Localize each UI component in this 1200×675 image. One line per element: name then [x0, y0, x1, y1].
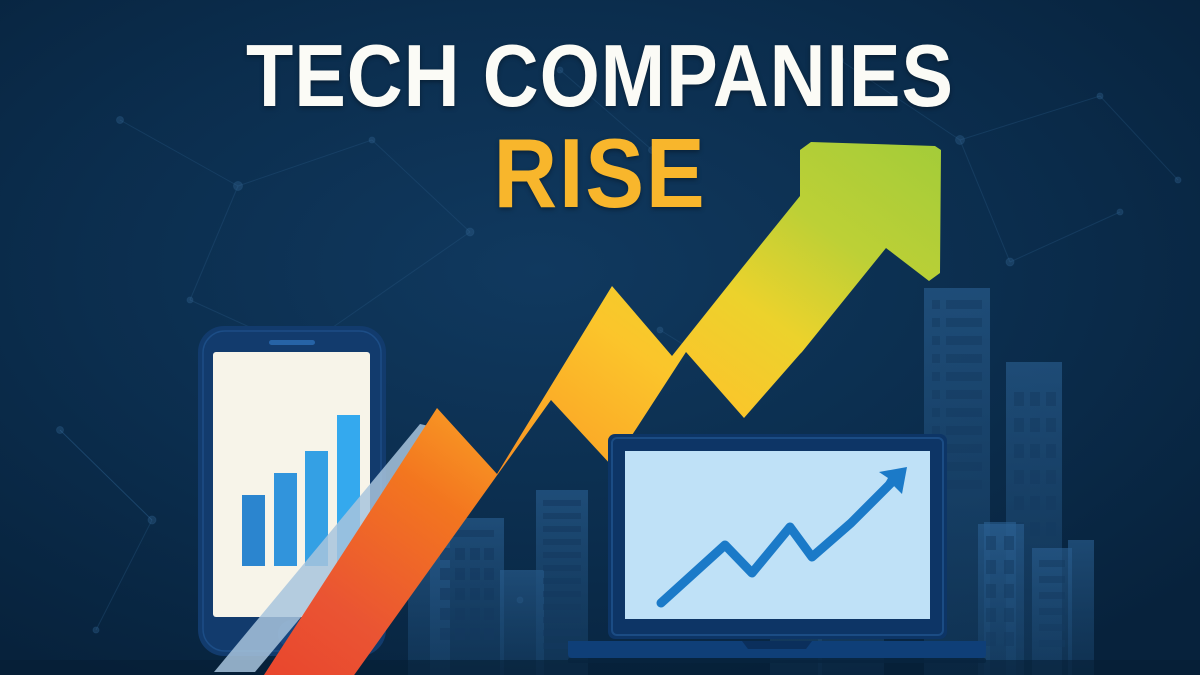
phone-bar-2 — [274, 473, 297, 566]
phone-bar-1 — [242, 495, 265, 566]
phone-speaker — [269, 340, 315, 345]
laptop-base-notch — [742, 641, 812, 649]
laptop-device[interactable] — [568, 434, 986, 663]
laptop-base-shadow — [568, 658, 986, 663]
poster-canvas: TECH COMPANIES RISE — [0, 0, 1200, 675]
devices-and-arrow-layer — [0, 0, 1200, 675]
